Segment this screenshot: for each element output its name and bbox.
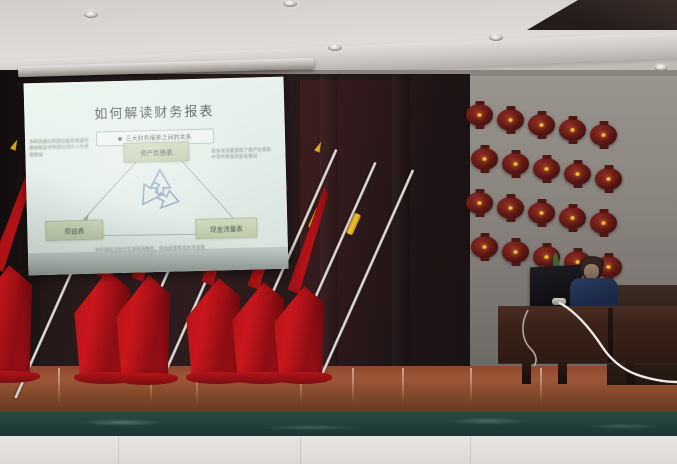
flag-6-spear-icon bbox=[314, 140, 324, 152]
microphone-base bbox=[552, 298, 566, 305]
tile-seam bbox=[470, 436, 471, 464]
flag-4-drape bbox=[184, 278, 240, 378]
lantern-glow bbox=[570, 128, 575, 132]
downlight-icon bbox=[328, 44, 342, 51]
table-seam bbox=[608, 308, 613, 362]
table-leg bbox=[626, 362, 635, 384]
flag-1-pooled-fabric bbox=[0, 371, 40, 383]
lantern-glow bbox=[606, 177, 611, 181]
lantern-glow bbox=[477, 113, 482, 117]
downlight-icon bbox=[283, 0, 297, 7]
flag-1-spear-icon bbox=[10, 138, 20, 150]
podium-table bbox=[498, 306, 677, 364]
table-leg bbox=[522, 362, 531, 384]
diagram-box-balance-sheet: 资产负债表 bbox=[123, 141, 190, 163]
lantern-glow bbox=[575, 172, 580, 176]
downlight-icon bbox=[84, 11, 98, 18]
speaker-face bbox=[584, 264, 599, 279]
stage-edge-band bbox=[0, 412, 677, 438]
recycle-arrows-icon bbox=[130, 163, 191, 217]
tile-seam bbox=[300, 436, 301, 464]
front-floor bbox=[0, 436, 677, 464]
conference-hall-photo: 如何解读财务报表 三大财务报表之间的关系 资产负债表 损 bbox=[0, 0, 677, 464]
lantern-glow bbox=[601, 221, 606, 225]
annotation-left: 净利润通过利润分配形成留存收益和应付利润分别计入负债和权益 bbox=[29, 138, 93, 159]
lantern-glow bbox=[601, 133, 606, 137]
diagram-box-income-statement: 损益表 bbox=[45, 219, 104, 241]
slide-diagram: 资产负债表 损益表 现金流量表 净利润通过利润分配形成留存收益和应付利润分别计入… bbox=[25, 139, 288, 266]
flag-6-pooled-fabric bbox=[274, 372, 332, 384]
flag-3-pooled-fabric bbox=[116, 373, 178, 385]
downlight-icon bbox=[489, 34, 503, 41]
flag-1-drape bbox=[0, 265, 32, 377]
podium-area bbox=[498, 250, 677, 385]
projection-screen: 如何解读财务报表 三大财务报表之间的关系 资产负债表 损 bbox=[24, 77, 289, 276]
table-leg bbox=[558, 362, 567, 384]
lantern-glow bbox=[570, 216, 575, 220]
bullet-dot-icon bbox=[118, 137, 122, 141]
tile-seam bbox=[118, 436, 119, 464]
diagram-box-cash-flow: 现金流量表 bbox=[195, 217, 258, 239]
flag-6-pole bbox=[318, 169, 414, 380]
slide-title: 如何解读财务报表 bbox=[34, 99, 274, 124]
slide-content: 如何解读财务报表 三大财务报表之间的关系 资产负债表 损 bbox=[24, 77, 289, 276]
annotation-right: 现金净流量反映了资产负债表中货币资金的变化情况 bbox=[211, 147, 273, 161]
